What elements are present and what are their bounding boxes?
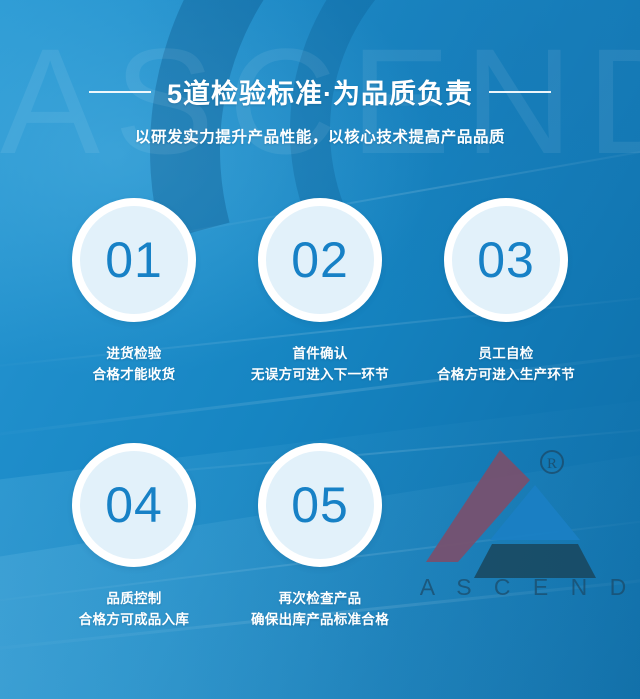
- step-caption-line1-05: 再次检查产品: [279, 591, 362, 606]
- ascend-logo: R A S C E N D: [420, 440, 635, 600]
- step-caption-line2-04: 合格方可成品入库: [41, 610, 227, 631]
- step-caption-line2-03: 合格方可进入生产环节: [413, 365, 599, 386]
- step-circle-02: 02: [258, 198, 382, 322]
- step-item-05: 05 再次检查产品 确保出库产品标准合格: [227, 443, 413, 631]
- step-item-01: 01 进货检验 合格才能收货: [41, 198, 227, 386]
- step-caption-line2-02: 无误方可进入下一环节: [227, 365, 413, 386]
- step-caption-line1-01: 进货检验: [106, 346, 161, 361]
- step-circle-inner-01: 01: [80, 206, 188, 314]
- step-caption-line1-02: 首件确认: [292, 346, 347, 361]
- title-rule-right: [489, 91, 551, 93]
- step-circle-05: 05: [258, 443, 382, 567]
- steps-row-1: 01 进货检验 合格才能收货 02 首件确认 无误方可进入下一环节: [0, 198, 640, 443]
- step-caption-line2-01: 合格才能收货: [41, 365, 227, 386]
- logo-registered-glyph: R: [547, 456, 557, 472]
- step-circle-04: 04: [72, 443, 196, 567]
- page-title: 5道检验标准·为品质负责: [167, 72, 473, 111]
- step-number-01: 01: [105, 235, 163, 285]
- step-number-02: 02: [291, 235, 349, 285]
- page-subtitle: 以研发实力提升产品性能，以核心技术提高产品品质: [0, 125, 640, 147]
- step-circle-inner-02: 02: [266, 206, 374, 314]
- logo-navy-base-shape: [474, 544, 596, 578]
- promo-banner: ASCEND 5道检验标准·为品质负责 以研发实力提升产品性能，以核心技术提高产…: [0, 0, 640, 699]
- step-circle-inner-05: 05: [266, 451, 374, 559]
- step-circle-03: 03: [444, 198, 568, 322]
- step-caption-02: 首件确认 无误方可进入下一环节: [227, 344, 413, 386]
- step-caption-line1-03: 员工自检: [478, 346, 533, 361]
- step-number-03: 03: [477, 235, 535, 285]
- logo-wordmark: A S C E N D: [420, 574, 634, 600]
- step-caption-line1-04: 品质控制: [106, 591, 161, 606]
- step-caption-03: 员工自检 合格方可进入生产环节: [413, 344, 599, 386]
- step-circle-inner-04: 04: [80, 451, 188, 559]
- step-caption-04: 品质控制 合格方可成品入库: [41, 589, 227, 631]
- title-rule-left: [89, 91, 151, 93]
- step-item-03: 03 员工自检 合格方可进入生产环节: [413, 198, 599, 386]
- step-caption-01: 进货检验 合格才能收货: [41, 344, 227, 386]
- step-item-02: 02 首件确认 无误方可进入下一环节: [227, 198, 413, 386]
- step-number-05: 05: [291, 480, 349, 530]
- step-caption-line2-05: 确保出库产品标准合格: [227, 610, 413, 631]
- step-item-04: 04 品质控制 合格方可成品入库: [41, 443, 227, 631]
- step-number-04: 04: [105, 480, 163, 530]
- step-caption-05: 再次检查产品 确保出库产品标准合格: [227, 589, 413, 631]
- step-circle-01: 01: [72, 198, 196, 322]
- title-row: 5道检验标准·为品质负责: [0, 72, 640, 111]
- step-circle-inner-03: 03: [452, 206, 560, 314]
- header: 5道检验标准·为品质负责 以研发实力提升产品性能，以核心技术提高产品品质: [0, 72, 640, 147]
